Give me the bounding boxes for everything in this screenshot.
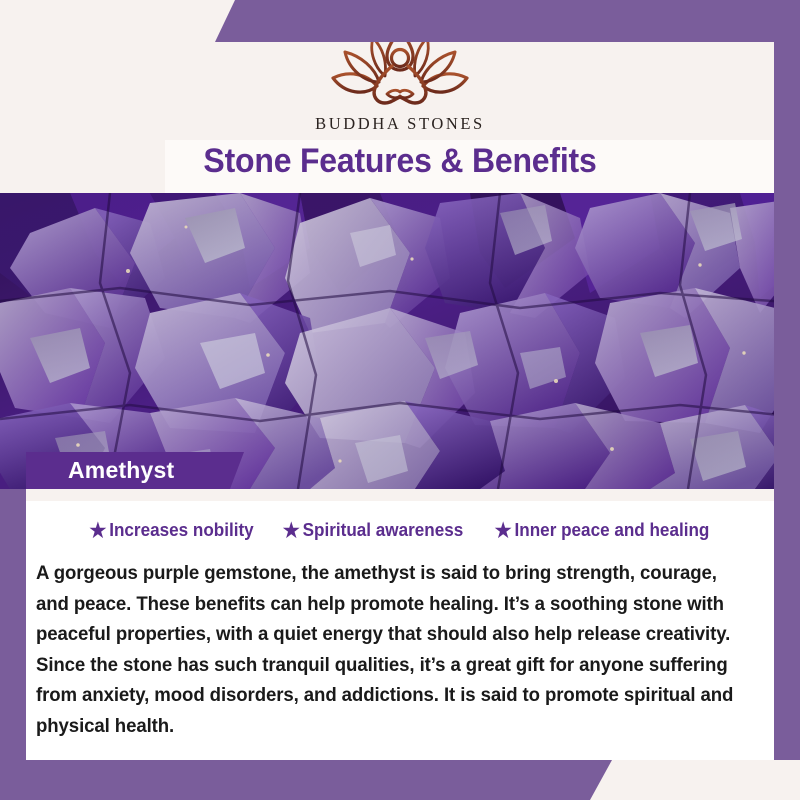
amethyst-crystal-cluster-image [0, 193, 800, 489]
decor-top-purple-band [215, 0, 800, 42]
stone-description: A gorgeous purple gemstone, the amethyst… [36, 558, 743, 741]
decor-right-purple-edge [774, 0, 800, 760]
stone-name-banner: Amethyst [26, 452, 244, 489]
benefit-label: Spiritual awareness [303, 520, 464, 541]
stone-name-label: Amethyst [68, 459, 174, 482]
benefits-list: ★ Increases nobility ★ Spiritual awarene… [26, 520, 774, 541]
content-top-strip [26, 489, 774, 501]
benefit-label: Increases nobility [110, 520, 254, 541]
page-title: Stone Features & Benefits [24, 142, 776, 181]
benefit-item: ★ Inner peace and healing [494, 520, 709, 541]
benefit-item: ★ Spiritual awareness [283, 520, 464, 541]
benefit-label: Inner peace and healing [514, 520, 709, 541]
star-icon: ★ [283, 521, 300, 541]
benefit-item: ★ Increases nobility [90, 520, 254, 541]
star-icon: ★ [494, 521, 511, 541]
stone-benefits-card: BUDDHA STONES Stone Features & Benefits [0, 0, 800, 800]
decor-bottom-right-fill [586, 760, 800, 800]
decor-left-purple-edge [0, 489, 26, 800]
brand-name: BUDDHA STONES [300, 114, 500, 134]
star-icon: ★ [90, 521, 107, 541]
decor-bottom-purple-band [0, 760, 612, 800]
